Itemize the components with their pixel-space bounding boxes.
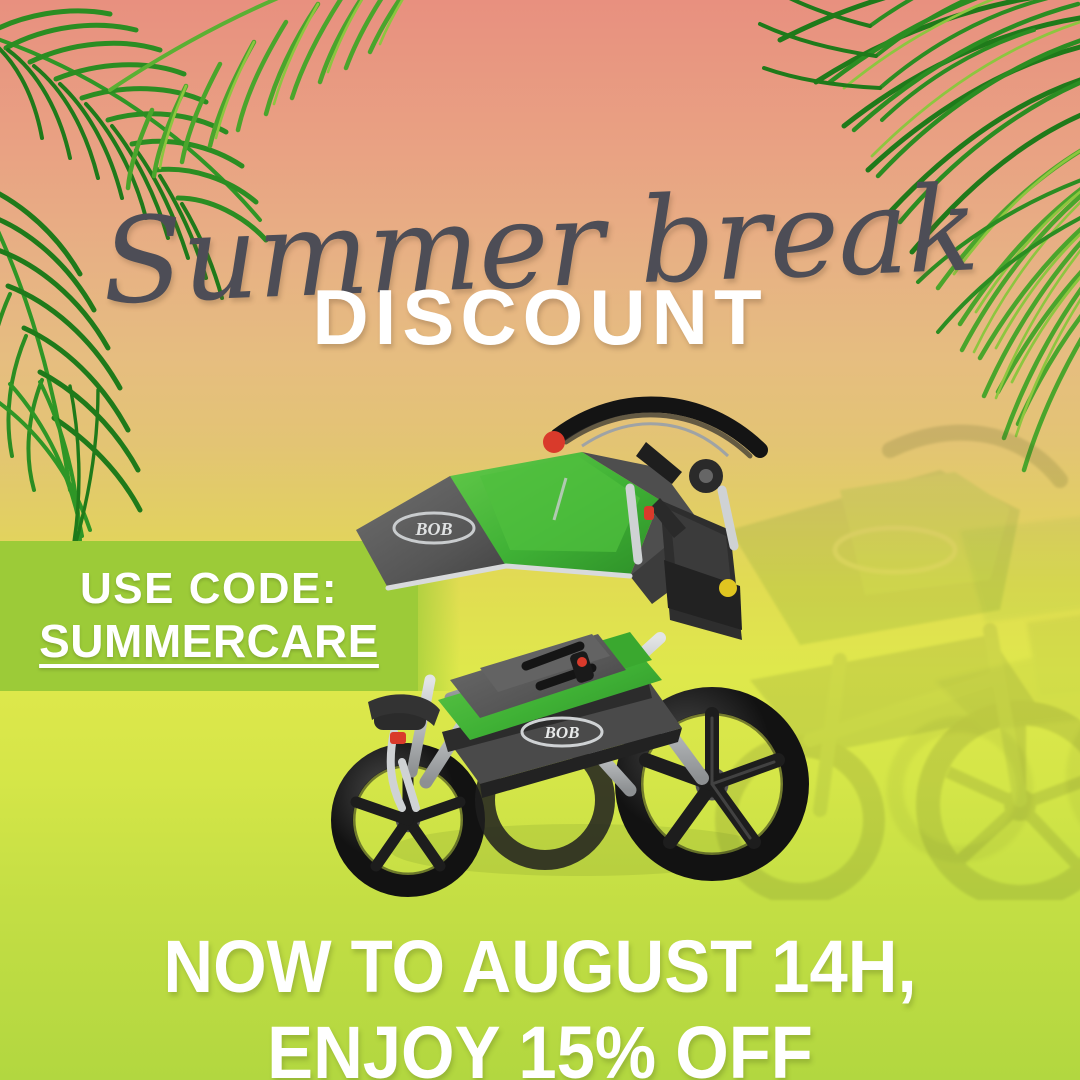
footer-promo-line2: ENJOY 15% OFF <box>38 1016 1042 1080</box>
promo-code-value[interactable]: SUMMERCARE <box>39 618 379 665</box>
accent-yellow-part <box>719 579 737 597</box>
accent-red-part <box>390 732 406 744</box>
footer-promo-line1: NOW TO AUGUST 14H, <box>38 930 1042 1004</box>
headline-discount: DISCOUNT <box>0 272 1080 363</box>
palm-leaf-icon-top-right-2 <box>700 0 1080 150</box>
promo-poster: BOB <box>0 0 1080 1080</box>
use-code-label: USE CODE: <box>80 567 338 612</box>
svg-text:BOB: BOB <box>414 519 452 539</box>
footer-promo-group: NOW TO AUGUST 14H, ENJOY 15% OFF <box>0 930 1080 1080</box>
palm-leaf-icon-top-left-2 <box>30 0 470 200</box>
promo-code-text-group: USE CODE: SUMMERCARE <box>0 541 418 691</box>
svg-text:BOB: BOB <box>544 723 580 742</box>
